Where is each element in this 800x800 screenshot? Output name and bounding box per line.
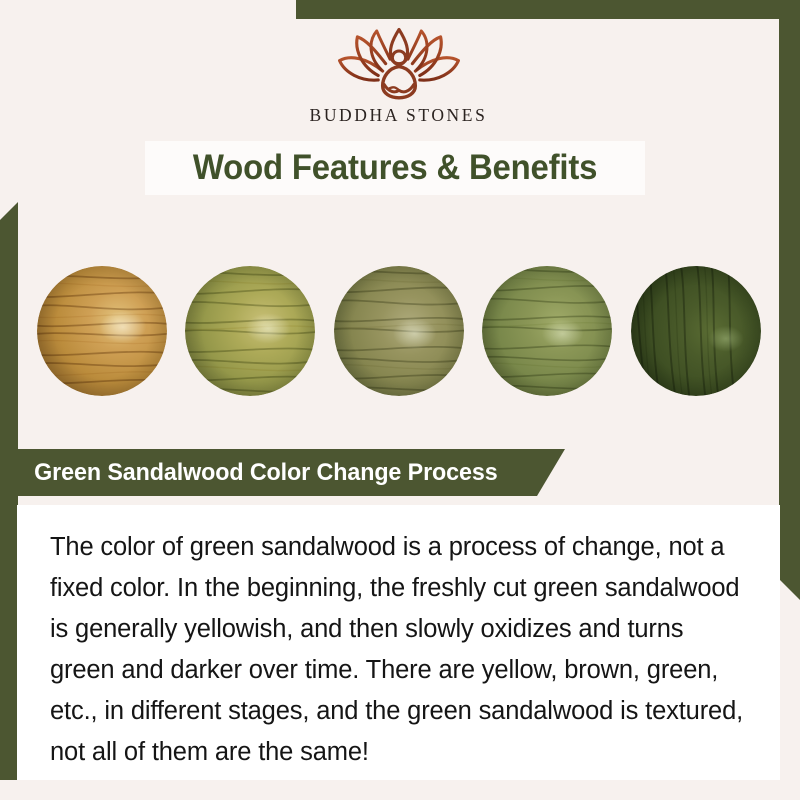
page-title: Wood Features & Benefits [193,148,597,188]
frame-top-right-bar [296,0,800,19]
bead-stage-4-moss-green [482,266,612,396]
lotus-meditating-figure-icon [324,25,474,103]
body-text-panel: The color of green sandalwood is a proce… [17,505,780,780]
page-title-banner: Wood Features & Benefits [145,141,645,195]
infographic-root: BUDDHA STONES Wood Features & Benefits [0,0,800,800]
brand-header: BUDDHA STONES [18,19,779,134]
bead-stage-1-yellowish [37,266,167,396]
bead-stage-5-dark-green [631,266,761,396]
body-paragraph: The color of green sandalwood is a proce… [50,527,746,773]
frame-right-bar [779,0,800,600]
section-heading-text: Green Sandalwood Color Change Process [34,459,497,487]
section-heading-band: Green Sandalwood Color Change Process [0,449,565,496]
bead-stage-2-yellow-green [185,266,315,396]
brand-name: BUDDHA STONES [310,105,488,126]
bead-stage-3-olive [334,266,464,396]
bead-color-stage-row [18,248,779,413]
